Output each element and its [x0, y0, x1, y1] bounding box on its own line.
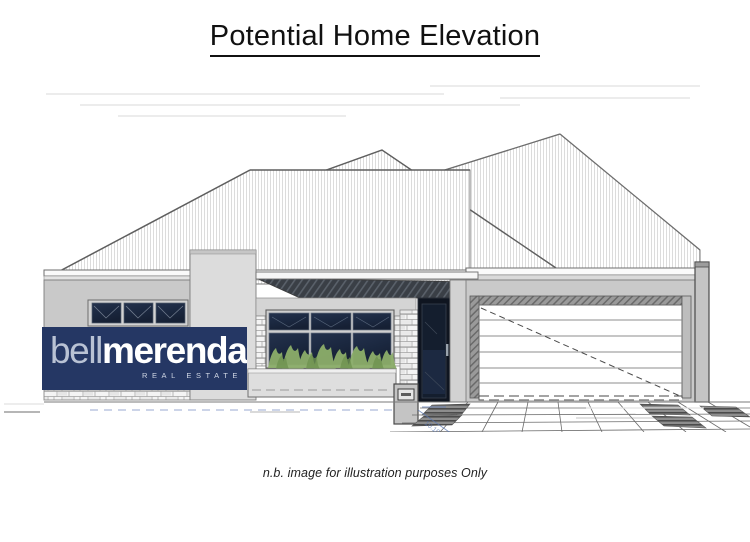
right-pier	[695, 262, 709, 402]
portico-eave	[256, 272, 478, 298]
elevation-page: Potential Home Elevation	[0, 0, 750, 542]
paver-driveway: 10.10	[4, 402, 750, 432]
page-title: Potential Home Elevation	[210, 20, 540, 57]
logo-wordmark: bellmerenda	[50, 332, 240, 370]
logo-word-bold: merenda	[102, 330, 246, 371]
entry-door	[418, 298, 450, 402]
logo-word-light: bell	[50, 330, 102, 371]
page-title-container: Potential Home Elevation	[0, 20, 750, 57]
garage-door	[479, 305, 682, 400]
planter-box	[248, 369, 396, 397]
bellmerenda-real-estate-logo: bellmerenda REAL ESTATE	[42, 327, 247, 390]
letterbox	[394, 384, 418, 424]
ground-guide-lines	[4, 404, 704, 408]
left-window-bank	[88, 300, 188, 326]
illustration-disclaimer: n.b. image for illustration purposes Onl…	[0, 466, 750, 480]
logo-tagline: REAL ESTATE	[102, 371, 242, 380]
left-hip-roof	[44, 170, 476, 280]
garage-roof-fascia	[466, 268, 700, 280]
